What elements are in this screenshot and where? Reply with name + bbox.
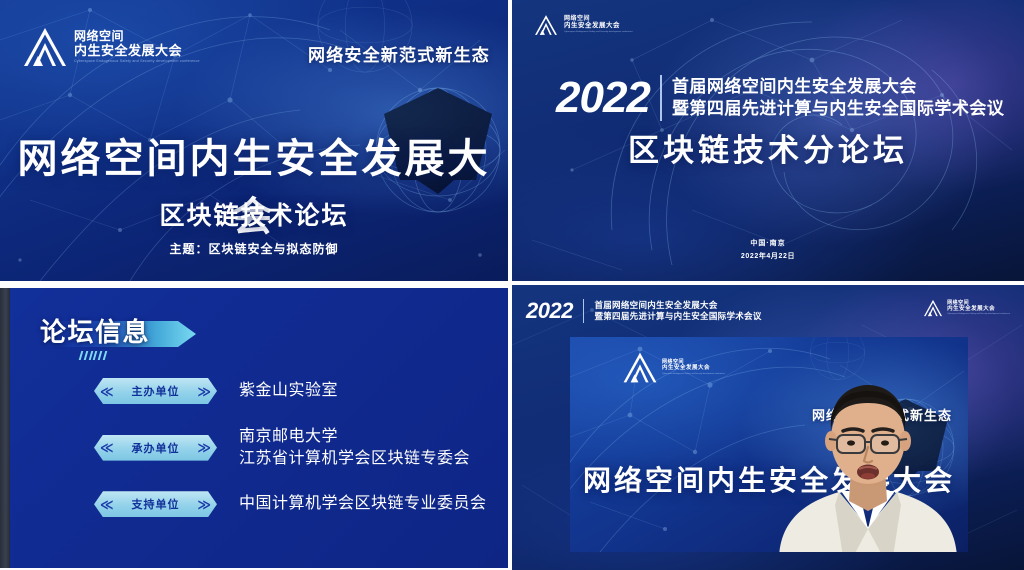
logo-line2: 内生安全发展大会: [662, 366, 725, 372]
section-title: 论坛信息: [34, 315, 150, 349]
section-heading: 论坛信息: [34, 315, 150, 353]
logo-line2: 内生安全发展大会: [564, 23, 633, 30]
slogan-text: 网络安全新范式新生态: [308, 41, 490, 66]
logo-text: 网络空间 内生安全发展大会 Cyberspace Endogenous Safe…: [74, 30, 200, 63]
info-row: ≪ 主办单位 ≫ 紫金山实验室: [10, 378, 508, 404]
logo-line3-en: Cyberspace Endogenous Safety and Securit…: [74, 59, 200, 63]
badge-label: 主办单位: [132, 383, 180, 399]
header-line-2: 暨第四届先进计算与内生安全国际学术会议: [672, 98, 1005, 120]
host-badge: ≪ 承办单位 ≫: [94, 435, 217, 461]
value-line: 南京邮电大学: [239, 426, 470, 448]
chevron-left-icon: ≪: [100, 498, 114, 511]
value-line: 中国计算机学会区块链专业委员会: [239, 493, 487, 515]
slide-grid: 网络空间 内生安全发展大会 Cyberspace Endogenous Safe…: [0, 0, 1024, 570]
header-lines: 首届网络空间内生安全发展大会 暨第四届先进计算与内生安全国际学术会议: [672, 76, 1005, 121]
slide-left-edge: [0, 288, 10, 568]
logo-line3-en: Cyberspace Endogenous Safety and Securit…: [564, 31, 633, 34]
panel-forum-information: 论坛信息 ≪ 主办单位 ≫ 紫金山实验室: [0, 285, 508, 570]
section-tick-decoration: [80, 351, 106, 360]
chevron-left-icon: ≪: [100, 441, 114, 454]
header-line-1: 首届网络空间内生安全发展大会: [594, 300, 761, 311]
year-label: 2022: [526, 298, 573, 324]
conference-logo: 网络空间 内生安全发展大会 Cyberspace Endogenous Safe…: [22, 26, 200, 68]
venue-text: 中国·南京: [512, 238, 1024, 248]
forum-subtitle: 区块链技术论坛: [0, 196, 508, 232]
info-row-values: 中国计算机学会区块链专业委员会: [239, 493, 487, 515]
panel-forum-title: 网络空间 内生安全发展大会 Cyberspace Endogenous Safe…: [512, 0, 1024, 281]
header-line-1: 首届网络空间内生安全发展大会: [672, 76, 1005, 98]
year-label: 2022: [556, 73, 650, 123]
info-row: ≪ 支持单位 ≫ 中国计算机学会区块链专业委员会: [10, 491, 508, 517]
speaker-silhouette: [763, 377, 968, 552]
slide-content: 论坛信息 ≪ 主办单位 ≫ 紫金山实验室: [10, 288, 508, 568]
logo-line1: 网络空间: [947, 301, 1010, 306]
logo-line1: 网络空间: [74, 30, 200, 42]
chevron-right-icon: ≫: [197, 385, 211, 398]
logo-line2: 内生安全发展大会: [947, 307, 1010, 313]
supporter-badge: ≪ 支持单位 ≫: [94, 491, 217, 517]
info-row-values: 紫金山实验室: [239, 380, 338, 402]
info-row: ≪ 承办单位 ≫ 南京邮电大学 江苏省计算机学会区块链专委会: [10, 426, 508, 469]
value-line: 江苏省计算机学会区块链专委会: [239, 448, 470, 470]
conference-logo: 网络空间 内生安全发展大会 Cyberspace Endogenous Safe…: [923, 299, 1010, 317]
chevron-right-icon: ≫: [197, 498, 211, 511]
chevron-right-icon: ≫: [197, 441, 211, 454]
header-lines: 首届网络空间内生安全发展大会 暨第四届先进计算与内生安全国际学术会议: [594, 300, 761, 323]
value-line: 紫金山实验室: [239, 380, 338, 402]
header-divider: [583, 299, 585, 323]
header-divider: [660, 75, 662, 121]
conference-header: 2022 首届网络空间内生安全发展大会 暨第四届先进计算与内生安全国际学术会议: [556, 73, 1004, 123]
organizer-badge: ≪ 主办单位 ≫: [94, 378, 217, 404]
logo-text: 网络空间 内生安全发展大会 Cyberspace Endogenous Safe…: [662, 360, 725, 375]
topic-text: 主题：区块链安全与拟态防御: [0, 240, 508, 257]
panel-live-speaker: 2022 首届网络空间内生安全发展大会 暨第四届先进计算与内生安全国际学术会议 …: [512, 285, 1024, 570]
info-row-values: 南京邮电大学 江苏省计算机学会区块链专委会: [239, 426, 470, 469]
panel-conference-opening: 网络空间 内生安全发展大会 Cyberspace Endogenous Safe…: [0, 0, 508, 281]
badge-label: 承办单位: [132, 440, 180, 456]
info-rows: ≪ 主办单位 ≫ 紫金山实验室 ≪ 承办单位 ≫: [10, 378, 508, 539]
conference-header: 2022 首届网络空间内生安全发展大会 暨第四届先进计算与内生安全国际学术会议: [526, 298, 762, 324]
mountain-peaks-logo-icon: [534, 14, 558, 36]
mountain-peaks-logo-icon: [622, 351, 658, 384]
logo-line3-en: Cyberspace Endogenous Safety and Securit…: [662, 373, 725, 376]
logo-text: 网络空间 内生安全发展大会 Cyberspace Endogenous Safe…: [947, 301, 1010, 316]
logo-text: 网络空间 内生安全发展大会 Cyberspace Endogenous Safe…: [564, 16, 633, 33]
conference-logo: 网络空间 内生安全发展大会 Cyberspace Endogenous Safe…: [534, 14, 633, 36]
speaker-figure: [763, 377, 968, 552]
forum-title: 区块链技术分论坛: [512, 125, 1024, 170]
chevron-left-icon: ≪: [100, 385, 114, 398]
badge-label: 支持单位: [132, 496, 180, 512]
date-text: 2022年4月22日: [512, 251, 1024, 261]
speaker-video-feed[interactable]: 网络空间 内生安全发展大会 Cyberspace Endogenous Safe…: [570, 337, 968, 552]
logo-line3-en: Cyberspace Endogenous Safety and Securit…: [947, 313, 1010, 316]
header-line-2: 暨第四届先进计算与内生安全国际学术会议: [594, 311, 761, 322]
mountain-peaks-logo-icon: [22, 26, 68, 68]
mountain-peaks-logo-icon: [923, 299, 943, 317]
logo-line2: 内生安全发展大会: [74, 44, 200, 57]
